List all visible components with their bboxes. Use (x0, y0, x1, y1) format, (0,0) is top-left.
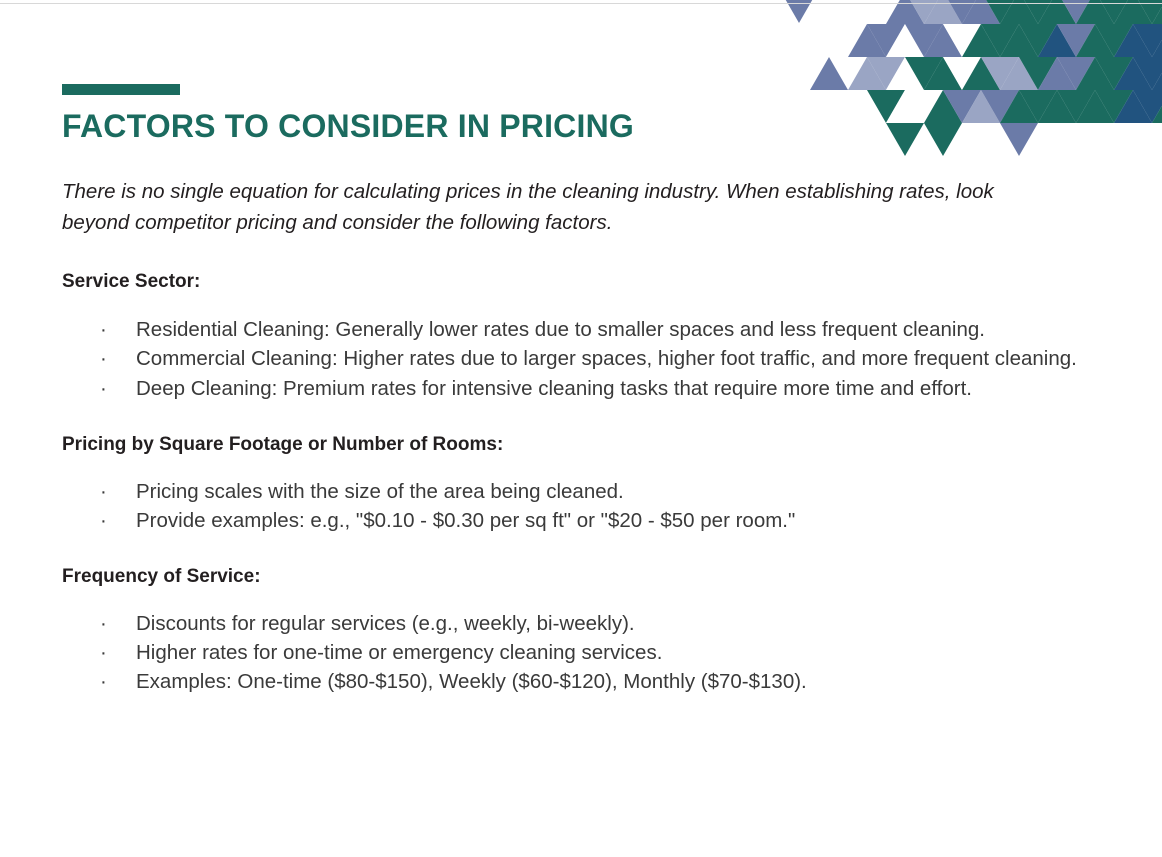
list-item-text: Residential Cleaning: Generally lower ra… (136, 318, 985, 341)
list-item: · Residential Cleaning: Generally lower … (62, 316, 1107, 343)
document-content: FACTORS TO CONSIDER IN PRICING There is … (62, 0, 1107, 698)
section-heading: Frequency of Service: (62, 565, 1107, 590)
list-item: · Deep Cleaning: Premium rates for inten… (62, 375, 1107, 402)
section-heading: Pricing by Square Footage or Number of R… (62, 433, 1107, 458)
list-item-text: Provide examples: e.g., "$0.10 - $0.30 p… (136, 509, 795, 532)
bullet-list: · Discounts for regular services (e.g., … (62, 610, 1107, 696)
section-pricing-by-square-footage: Pricing by Square Footage or Number of R… (62, 433, 1107, 534)
list-item-text: Discounts for regular services (e.g., we… (136, 612, 635, 635)
bullet-marker-icon: · (100, 668, 107, 695)
intro-paragraph: There is no single equation for calculat… (62, 176, 1062, 238)
list-item: · Examples: One-time ($80-$150), Weekly … (62, 668, 1107, 695)
bullet-list: · Residential Cleaning: Generally lower … (62, 316, 1107, 402)
section-heading: Service Sector: (62, 270, 1107, 295)
title-accent-bar (62, 84, 180, 95)
page-title: FACTORS TO CONSIDER IN PRICING (62, 109, 1107, 144)
list-item-text: Higher rates for one-time or emergency c… (136, 641, 662, 664)
list-item: · Provide examples: e.g., "$0.10 - $0.30… (62, 507, 1107, 534)
list-item: · Pricing scales with the size of the ar… (62, 478, 1107, 505)
top-hairline (0, 3, 1162, 4)
section-service-sector: Service Sector: · Residential Cleaning: … (62, 270, 1107, 402)
bullet-marker-icon: · (100, 507, 107, 534)
section-frequency-of-service: Frequency of Service: · Discounts for re… (62, 565, 1107, 695)
bullet-marker-icon: · (100, 610, 107, 637)
list-item-text: Pricing scales with the size of the area… (136, 480, 624, 503)
bullet-marker-icon: · (100, 375, 107, 402)
list-item: · Higher rates for one-time or emergency… (62, 639, 1107, 666)
bullet-marker-icon: · (100, 478, 107, 505)
list-item: · Commercial Cleaning: Higher rates due … (62, 345, 1107, 372)
bullet-marker-icon: · (100, 316, 107, 343)
bullet-marker-icon: · (100, 345, 107, 372)
list-item-text: Deep Cleaning: Premium rates for intensi… (136, 377, 972, 400)
list-item: · Discounts for regular services (e.g., … (62, 610, 1107, 637)
list-item-text: Commercial Cleaning: Higher rates due to… (136, 347, 1077, 370)
bullet-list: · Pricing scales with the size of the ar… (62, 478, 1107, 535)
list-item-text: Examples: One-time ($80-$150), Weekly ($… (136, 670, 807, 693)
bullet-marker-icon: · (100, 639, 107, 666)
